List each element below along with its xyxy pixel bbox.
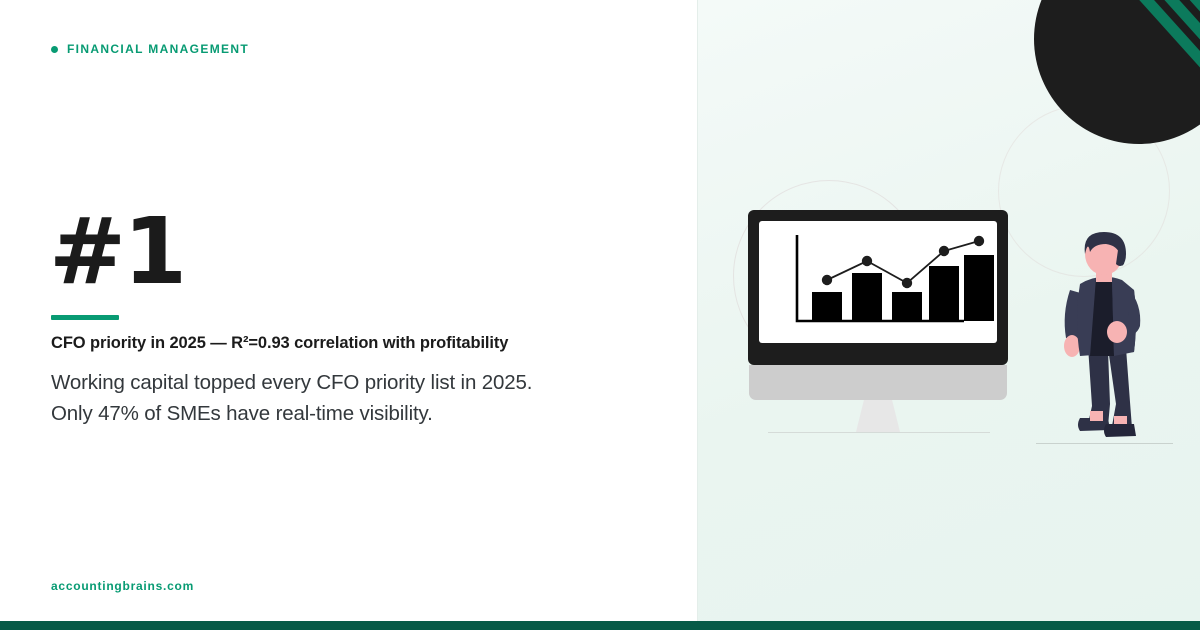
monitor-screen [759,221,997,343]
site-url: accountingbrains.com [51,579,194,593]
monitor-base [749,365,1007,400]
bar-chart-graphic [759,221,997,343]
social-card: FINANCIAL MANAGEMENT #1 CFO priority in … [0,0,1200,630]
monitor-ground-line [768,432,990,433]
subheadline: CFO priority in 2025 — R²=0.93 correlati… [51,334,508,353]
monitor-bezel [748,210,1008,365]
businessman-figure-icon [1050,228,1155,443]
body-line-2: Only 47% of SMEs have real-time visibili… [51,398,651,429]
category-eyebrow: FINANCIAL MANAGEMENT [51,42,249,56]
body-line-1: Working capital topped every CFO priorit… [51,367,651,398]
category-label: FINANCIAL MANAGEMENT [67,42,249,56]
footer-accent-bar [0,621,1200,630]
accent-divider [51,315,119,320]
rank-number: #1 [49,206,184,298]
businessman-illustration [1050,228,1155,448]
body-text: Working capital topped every CFO priorit… [51,367,651,429]
bullet-dot-icon [51,46,58,53]
